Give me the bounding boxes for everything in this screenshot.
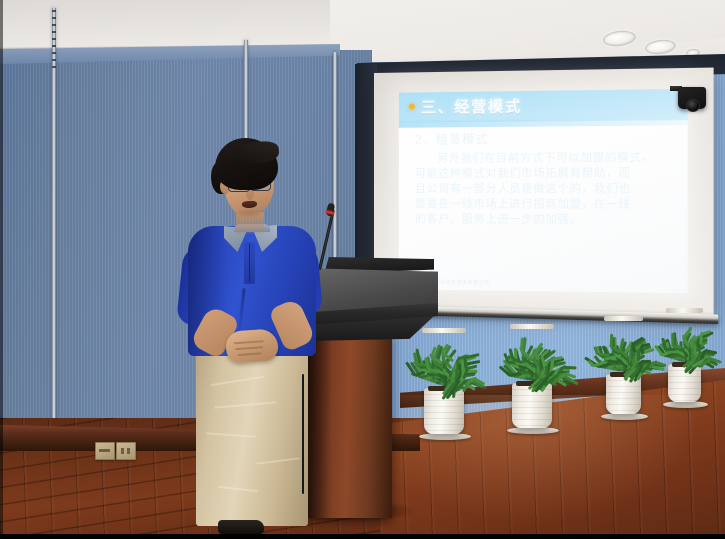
presenter-pants xyxy=(196,348,308,526)
slide-title: 三、经营模式 xyxy=(421,95,522,117)
slide-section-heading: 2．租赁模式 xyxy=(415,129,675,148)
slide-body-line: 另外我们在目前方式下可以加盟的模式， xyxy=(415,150,675,166)
wall-trim-perforations xyxy=(52,10,56,70)
plant-saucer xyxy=(419,433,471,440)
wall-outlet-left xyxy=(95,442,115,460)
presenter-chin-shadow xyxy=(234,208,264,218)
wall-outlet-right xyxy=(116,442,136,460)
bullet-dot-icon xyxy=(409,104,415,110)
camera-lens-icon xyxy=(686,99,700,112)
slide-body-line: 可能这种模式对我们市场拓展有帮助，而 xyxy=(415,166,675,182)
slide-body-line: 是要在一线市场上进行招商加盟，在一线 xyxy=(415,197,675,213)
projected-slide: 三、经营模式 2．租赁模式 另外我们在目前方式下可以加盟的模式， 可能这种模式对… xyxy=(399,89,688,293)
slide-section-number: 2． xyxy=(415,133,436,147)
plant-saucer xyxy=(507,427,559,434)
potted-palm-1 xyxy=(424,330,494,440)
palm-leaflet xyxy=(698,335,701,345)
presenter-shoe xyxy=(218,520,264,534)
left-edge-bar xyxy=(0,0,3,539)
potted-palm-4 xyxy=(668,310,725,408)
plant-pot-rim xyxy=(666,308,703,313)
slide-body-line: 且公司有一部分人员是做这个的，我们也 xyxy=(415,182,675,198)
presenter xyxy=(178,138,338,538)
presenter-placket-seam xyxy=(249,244,250,282)
wall-trim-strip-1 xyxy=(52,8,56,438)
plant-pot-rim xyxy=(604,316,643,321)
palm-leaflet xyxy=(562,365,576,369)
bottom-letterbox-bar xyxy=(0,534,725,539)
palm-leaflet xyxy=(636,350,639,361)
plant-saucer xyxy=(601,413,648,420)
presenter-hands xyxy=(225,328,279,364)
potted-palm-2 xyxy=(512,326,584,434)
slide-section-title: 租赁模式 xyxy=(436,132,489,147)
plant-pot-rim xyxy=(510,324,554,329)
plant-saucer xyxy=(663,401,708,408)
conference-room-photo: 三、经营模式 2．租赁模式 另外我们在目前方式下可以加盟的模式， 可能这种模式对… xyxy=(0,0,725,539)
slide-body: 2．租赁模式 另外我们在目前方式下可以加盟的模式， 可能这种模式对我们市场拓展有… xyxy=(415,129,675,229)
hanging-cable xyxy=(302,374,304,494)
plant-pot-rim xyxy=(422,328,466,333)
slide-body-line: 的客户、服务上进一步的加强。 xyxy=(415,212,675,228)
